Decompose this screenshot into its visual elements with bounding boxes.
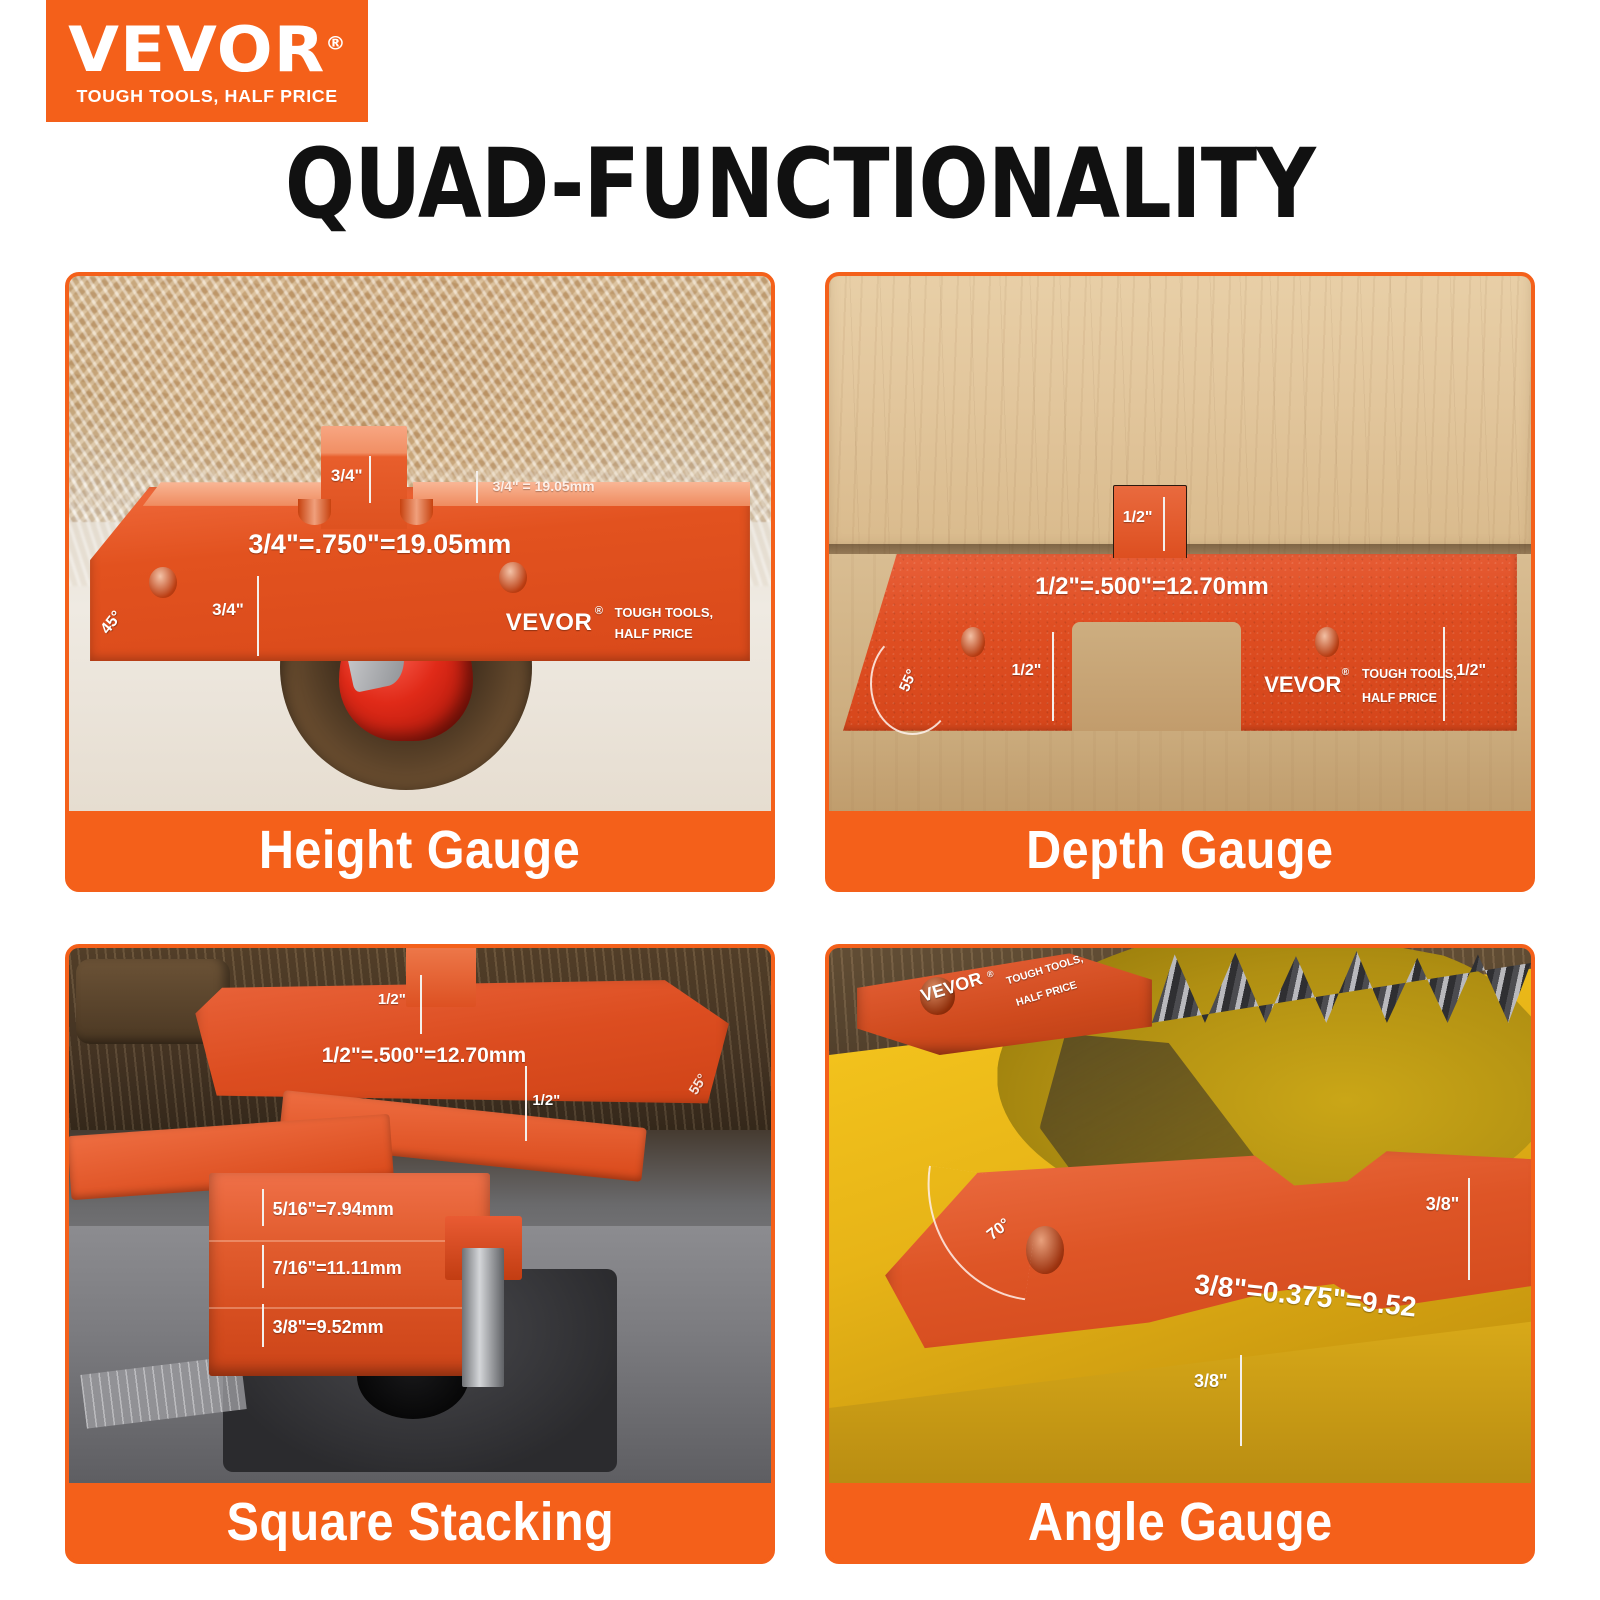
marking-right-vertical-dimension: 1/2": [1456, 662, 1486, 680]
registered-trademark-icon: ®: [326, 32, 346, 54]
dimension-arrow-tab: [1163, 497, 1165, 551]
scene-saw-blade: VEVOR ® TOUGH TOOLS, HALF PRICE 70° 3/8"…: [829, 948, 1531, 1483]
feature-panel-height-gauge[interactable]: 3/4" 3/4" = 19.05mm 3/4"=.750"=19.05mm 3…: [65, 272, 775, 892]
brand-wordmark: VEVOR®: [68, 21, 345, 80]
feature-panel-depth-gauge[interactable]: 1/2" 1/2"=.500"=12.70mm 1/2" 1/2" 55° VE…: [825, 272, 1535, 892]
brand-logo: VEVOR® TOUGH TOOLS, HALF PRICE: [46, 0, 368, 122]
tool-brand-registered-icon: ®: [1342, 667, 1349, 678]
brand-wordmark-text: VEVOR: [68, 13, 325, 86]
tool-brand-wordmark: VEVOR: [506, 609, 593, 637]
marking-top-right-dimension: 3/4" = 19.05mm: [493, 478, 595, 494]
marking-stack-dimension-2: 7/16"=11.11mm: [273, 1258, 402, 1279]
caption-height-gauge: Height Gauge: [69, 811, 771, 888]
router-bit-shaft: [462, 1248, 504, 1387]
marking-stack-dimension-1: 5/16"=7.94mm: [273, 1199, 394, 1220]
tool-brand-registered-icon: ®: [595, 605, 603, 617]
dimension-arrow-top-right: [476, 471, 478, 504]
marking-main-dimension: 3/4"=.750"=19.05mm: [248, 529, 511, 560]
marking-tab-dimension: 3/4": [331, 466, 363, 486]
marking-main-dimension: 1/2"=.500"=12.70mm: [1035, 573, 1269, 601]
marking-left-vertical-dimension: 3/4": [212, 600, 244, 620]
gauge-hole-left: [149, 567, 177, 598]
caption-height-gauge-text: Height Gauge: [259, 819, 580, 881]
caption-angle-gauge-text: Angle Gauge: [1028, 1491, 1333, 1553]
caption-square-stacking: Square Stacking: [69, 1483, 771, 1560]
tool-brand-tagline-line1: TOUGH TOOLS,: [615, 605, 713, 620]
tool-brand-tagline-line2: HALF PRICE: [615, 626, 693, 641]
feature-panel-square-stacking[interactable]: 1/2" 1/2"=.500"=12.70mm 1/2" 55° 5/16"=7…: [65, 944, 775, 1564]
marking-tab-dimension: 1/2": [1123, 509, 1153, 527]
height-gauge-tool: 3/4" 3/4" = 19.05mm 3/4"=.750"=19.05mm 3…: [90, 426, 750, 661]
scene-router-table: 3/4" 3/4" = 19.05mm 3/4"=.750"=19.05mm 3…: [69, 276, 771, 811]
tool-brand-tagline-line2: HALF PRICE: [1362, 691, 1437, 705]
photo-angle-gauge: VEVOR ® TOUGH TOOLS, HALF PRICE 70° 3/8"…: [829, 948, 1531, 1483]
marking-lower-vertical-dimension: 3/8": [1194, 1371, 1228, 1392]
gauge-notch-left: [1096, 549, 1123, 566]
caption-depth-gauge-text: Depth Gauge: [1026, 819, 1333, 881]
photo-square-stacking: 1/2" 1/2"=.500"=12.70mm 1/2" 55° 5/16"=7…: [69, 948, 771, 1483]
scene-router-table-stack: 1/2" 1/2"=.500"=12.70mm 1/2" 55° 5/16"=7…: [69, 948, 771, 1483]
photo-depth-gauge: 1/2" 1/2"=.500"=12.70mm 1/2" 1/2" 55° VE…: [829, 276, 1531, 811]
gauge-hole-right: [499, 562, 527, 593]
dimension-arrow-lower: [1240, 1355, 1242, 1446]
feature-panel-angle-gauge[interactable]: VEVOR ® TOUGH TOOLS, HALF PRICE 70° 3/8"…: [825, 944, 1535, 1564]
caption-depth-gauge: Depth Gauge: [829, 811, 1531, 888]
stack-divider-2: [209, 1307, 490, 1309]
gauge-center-gap: [1072, 622, 1240, 730]
page-title: QUAD-FUNCTIONALITY: [112, 128, 1488, 240]
brand-tagline: TOUGH TOOLS, HALF PRICE: [76, 86, 337, 107]
dimension-arrow-tab: [420, 975, 422, 1034]
marking-main-dimension: 1/2"=.500"=12.70mm: [322, 1044, 526, 1068]
marking-tab-dimension: 1/2": [378, 991, 406, 1008]
angle-arc: [870, 632, 955, 734]
gauge-hole-right: [1315, 627, 1339, 657]
dimension-arrow-left: [1052, 632, 1054, 721]
dimension-arrow-tab: [369, 456, 371, 503]
gauge-upper-step-tab: [406, 948, 476, 1007]
scene-wood-board: 1/2" 1/2"=.500"=12.70mm 1/2" 1/2" 55° VE…: [829, 276, 1531, 811]
tool-brand-tagline-line1: TOUGH TOOLS,: [1362, 667, 1457, 681]
marking-left-vertical-dimension: 1/2": [1012, 662, 1042, 680]
marking-right-vertical-dimension: 3/8": [1426, 1194, 1460, 1215]
marking-right-vertical-dimension: 1/2": [532, 1092, 560, 1109]
dimension-arrow-left: [257, 576, 259, 656]
dimension-arrow-right: [1468, 1178, 1470, 1280]
dimension-arrow-right: [525, 1066, 527, 1141]
gauge-notch-right: [1180, 549, 1207, 566]
dimension-arrow-stack-2: [262, 1245, 264, 1288]
feature-grid: 3/4" 3/4" = 19.05mm 3/4"=.750"=19.05mm 3…: [65, 272, 1535, 1564]
gauge-hole-left: [961, 627, 985, 657]
gauge-notch-right: [400, 499, 433, 525]
depth-gauge-tool: 1/2" 1/2"=.500"=12.70mm 1/2" 1/2" 55° VE…: [843, 485, 1517, 731]
dimension-arrow-stack-1: [262, 1189, 264, 1226]
dimension-arrow-stack-3: [262, 1304, 264, 1347]
caption-angle-gauge: Angle Gauge: [829, 1483, 1531, 1560]
gauge-notch-left: [298, 499, 331, 525]
photo-height-gauge: 3/4" 3/4" = 19.05mm 3/4"=.750"=19.05mm 3…: [69, 276, 771, 811]
tool-brand-wordmark: VEVOR: [1264, 672, 1341, 698]
marking-stack-dimension-3: 3/8"=9.52mm: [273, 1317, 384, 1338]
caption-square-stacking-text: Square Stacking: [226, 1491, 614, 1553]
gauge-ledge-left: [143, 482, 321, 506]
